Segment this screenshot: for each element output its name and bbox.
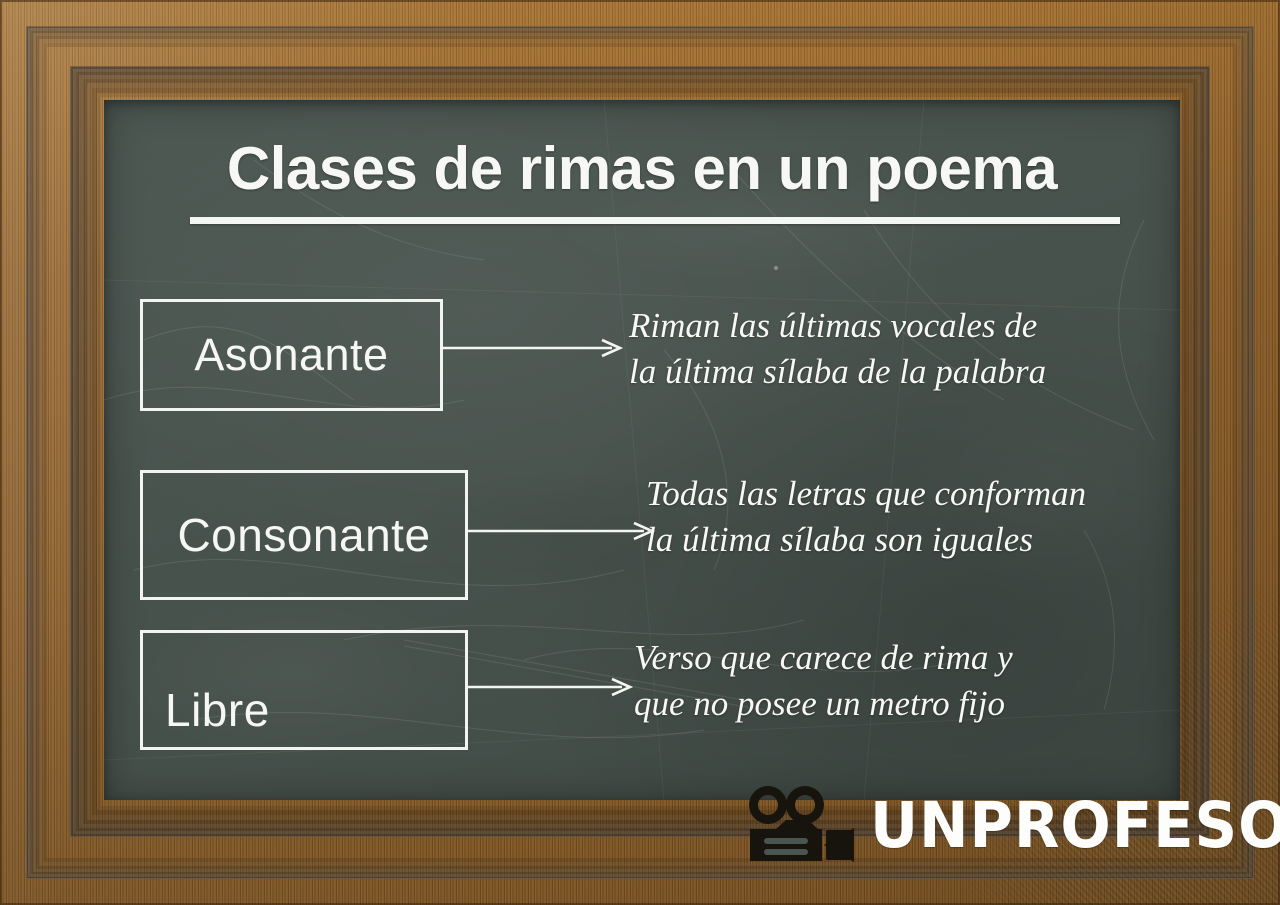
definition-consonante: Todas las letras que conforman la última…	[646, 471, 1180, 562]
chalkboard: Clases de rimas en un poema Asonante Rim…	[104, 100, 1180, 800]
slide-image: Clases de rimas en un poema Asonante Rim…	[0, 0, 1280, 905]
term-label: Consonante	[143, 508, 465, 562]
term-label: Asonante	[143, 329, 440, 381]
title-underline	[190, 217, 1120, 224]
board-content: Clases de rimas en un poema Asonante Rim…	[104, 100, 1180, 800]
page-title: Clases de rimas en un poema	[104, 134, 1180, 203]
term-label: Libre	[143, 683, 465, 747]
arrow-right-icon	[440, 336, 628, 360]
brand-logo[interactable]: UNPROFESOR	[748, 786, 1280, 864]
brand-wordmark: UNPROFESOR	[870, 794, 1280, 857]
term-box-libre[interactable]: Libre	[140, 630, 468, 750]
term-box-consonante[interactable]: Consonante	[140, 470, 468, 600]
arrow-right-icon	[466, 519, 660, 543]
term-box-asonante[interactable]: Asonante	[140, 299, 443, 411]
definition-libre: Verso que carece de rima y que no posee …	[634, 635, 1134, 726]
arrow-right-icon	[468, 675, 638, 699]
definition-asonante: Riman las últimas vocales de la última s…	[629, 303, 1149, 394]
movie-camera-icon	[748, 786, 856, 864]
